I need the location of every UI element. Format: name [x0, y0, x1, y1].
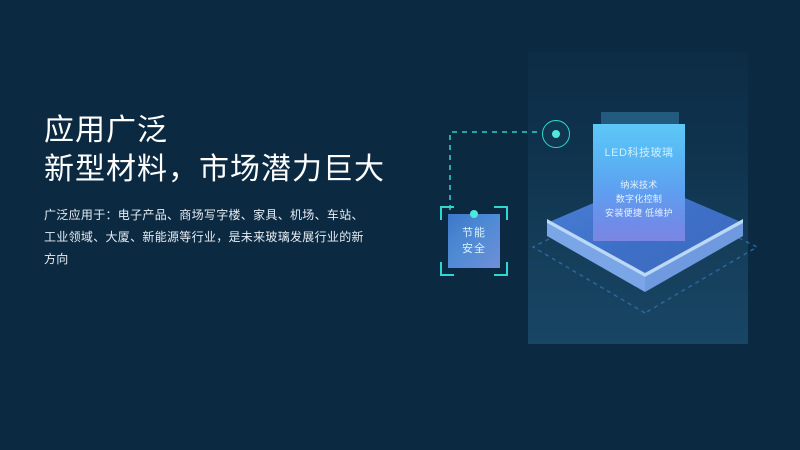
glass-panel: LED科技玻璃 纳米技术 数字化控制 安装便捷 低维护	[593, 124, 685, 241]
glass-panel-feature-list: 纳米技术 数字化控制 安装便捷 低维护	[593, 178, 685, 220]
headline-line-1: 应用广泛	[44, 112, 444, 150]
feature-card-line-2: 安全	[462, 241, 486, 257]
body-copy: 广泛应用于：电子产品、商场写字楼、家具、机场、车站、工业领域、大厦、新能源等行业…	[44, 204, 374, 270]
card-anchor-dot-icon	[470, 210, 478, 218]
text-block: 应用广泛 新型材料，市场潜力巨大 广泛应用于：电子产品、商场写字楼、家具、机场、…	[44, 112, 444, 270]
glass-panel-feature-1: 纳米技术	[593, 178, 685, 192]
glass-panel-feature-2: 数字化控制	[593, 192, 685, 206]
headline-line-2: 新型材料，市场潜力巨大	[44, 150, 444, 190]
slide-canvas: LED科技玻璃 纳米技术 数字化控制 安装便捷 低维护 节能 安全 应用广泛 新…	[0, 0, 800, 450]
node-dot-icon	[552, 130, 560, 138]
glass-panel-feature-3: 安装便捷 低维护	[593, 206, 685, 220]
feature-card-line-1: 节能	[462, 225, 486, 241]
feature-card-container: 节能 安全	[440, 206, 508, 276]
feature-card: 节能 安全	[448, 214, 500, 268]
glass-panel-title: LED科技玻璃	[593, 146, 685, 160]
node-circle-icon	[542, 120, 570, 148]
